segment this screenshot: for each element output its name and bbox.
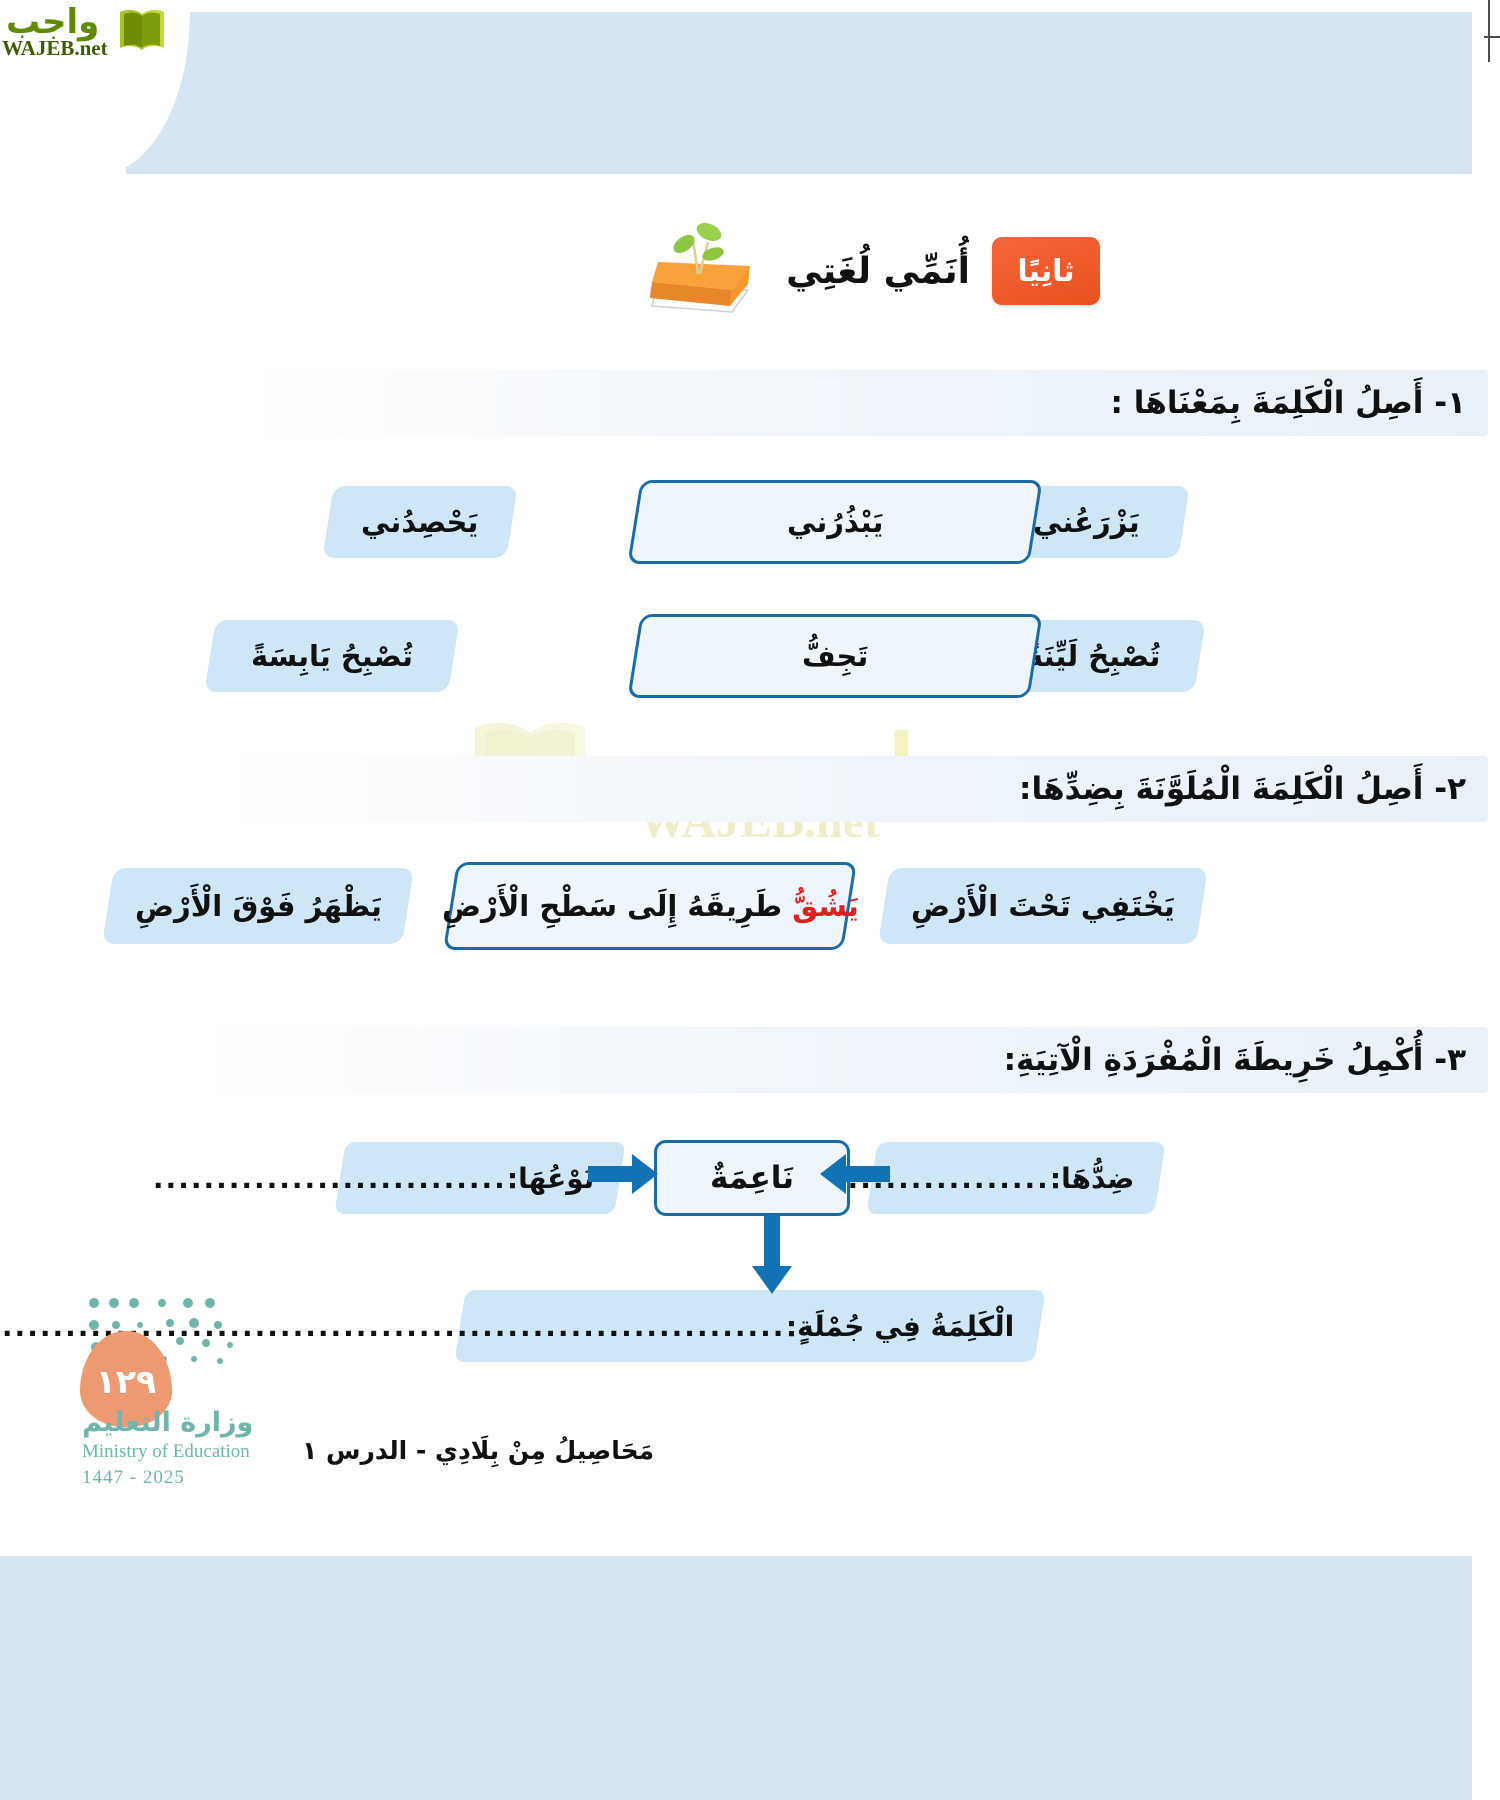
word-map-sentence-field[interactable]: الْكَلِمَةُ فِي جُمْلَةٍ: ..............…	[454, 1290, 1045, 1362]
book-with-sprout-icon	[636, 218, 764, 324]
exercise-1-row-1-left-chip[interactable]: يَحْصِدُني	[322, 486, 517, 558]
exercise-2-heading: ٢- أَصِلُ الْكَلِمَةَ الْمُلَوَّنَةَ بِض…	[218, 756, 1488, 822]
chip-label: يَحْصِدُني	[361, 505, 478, 539]
word-map-opposite-label: ضِدُّهَا:	[1050, 1162, 1134, 1195]
chip-label: يَبْذُرُني	[787, 505, 883, 539]
exercise-1-row-2-left-chip[interactable]: تُصْبِحُ يَابِسَةً	[204, 620, 459, 692]
chip-label-composite: يَشُقُّ طَرِيقَهُ إِلَى سَطْحِ الْأَرْضِ	[442, 889, 859, 923]
open-book-icon	[116, 4, 168, 56]
highlighted-word: يَشُقُّ	[792, 889, 859, 923]
section-title: أُنَمِّي لُغَتِي	[786, 251, 970, 292]
exercise-2-right-chip[interactable]: يَخْتَفِي تَحْتَ الْأَرْضِ	[878, 868, 1208, 944]
word-map-type-blank[interactable]: ............................	[153, 1162, 507, 1195]
chip-label: تُصْبِحُ لَيِّنَةً	[1026, 639, 1160, 673]
word-map-type-field[interactable]: نَوْعُهَا: ............................	[334, 1142, 625, 1214]
section-header: ثانِيًا أُنَمِّي لُغَتِي	[636, 218, 1100, 324]
word-map-opposite-field[interactable]: ضِدُّهَا: ............................	[866, 1142, 1165, 1214]
exercise-2-left-chip[interactable]: يَظْهَرُ فَوْقَ الْأَرْضِ	[102, 868, 414, 944]
chip-rest-text: طَرِيقَهُ إِلَى سَطْحِ الْأَرْضِ	[442, 889, 782, 923]
word-map-type-label: نَوْعُهَا:	[507, 1162, 594, 1195]
arrow-down-icon	[750, 1214, 794, 1296]
page-edge-mark-2	[1484, 36, 1500, 38]
exercise-1-row-1-center-chip[interactable]: يَبْذُرُني	[627, 480, 1042, 564]
page-edge-mark	[1488, 0, 1490, 62]
top-decorative-band	[0, 12, 1472, 174]
word-map-center-word: نَاعِمَةٌ	[710, 1160, 794, 1196]
exercise-1-row-2-center-chip[interactable]: تَجِفُّ	[627, 614, 1042, 698]
ministry-name-english: Ministry of Education	[82, 1441, 250, 1463]
section-badge: ثانِيًا	[992, 237, 1100, 305]
arrow-right-icon	[588, 1152, 660, 1196]
wajeb-logo-latin: WAJEB.net	[2, 36, 108, 61]
page-number: ١٢٩	[96, 1362, 156, 1401]
ministry-of-education-logo: ١٢٩ وزارة التعليم Ministry of Education …	[78, 1295, 278, 1495]
chip-label: يَزْرَعُني	[1033, 505, 1140, 539]
chip-label: يَظْهَرُ فَوْقَ الْأَرْضِ	[135, 889, 382, 923]
arrow-left-icon	[818, 1152, 890, 1196]
footer-decorative-band	[0, 1556, 1472, 1800]
chip-label: تَجِفُّ	[802, 639, 868, 673]
wajeb-logo: واجب WAJEB.net	[0, 0, 200, 70]
exercise-2-center-chip[interactable]: يَشُقُّ طَرِيقَهُ إِلَى سَطْحِ الْأَرْضِ	[443, 862, 857, 950]
chip-label: يَخْتَفِي تَحْتَ الْأَرْضِ	[911, 889, 1175, 923]
exercise-3-heading: ٣- أُكْمِلُ خَرِيطَةَ الْمُفْرَدَةِ الْآ…	[193, 1027, 1488, 1093]
lesson-caption: مَحَاصِيلُ مِنْ بِلَادِي - الدرس ١	[302, 1436, 654, 1465]
ministry-years: 2025 - 1447	[82, 1467, 185, 1489]
chip-label: تُصْبِحُ يَابِسَةً	[251, 639, 413, 673]
ministry-name-arabic: وزارة التعليم	[82, 1407, 253, 1438]
exercise-1-heading-text: ١- أَصِلُ الْكَلِمَةَ بِمَعْنَاهَا :	[1111, 385, 1467, 421]
exercise-3-heading-text: ٣- أُكْمِلُ خَرِيطَةَ الْمُفْرَدَةِ الْآ…	[1004, 1042, 1466, 1078]
word-map-sentence-label: الْكَلِمَةُ فِي جُمْلَةٍ:	[786, 1310, 1014, 1343]
exercise-1-heading: ١- أَصِلُ الْكَلِمَةَ بِمَعْنَاهَا :	[243, 370, 1488, 436]
exercise-2-heading-text: ٢- أَصِلُ الْكَلِمَةَ الْمُلَوَّنَةَ بِض…	[1019, 771, 1466, 807]
